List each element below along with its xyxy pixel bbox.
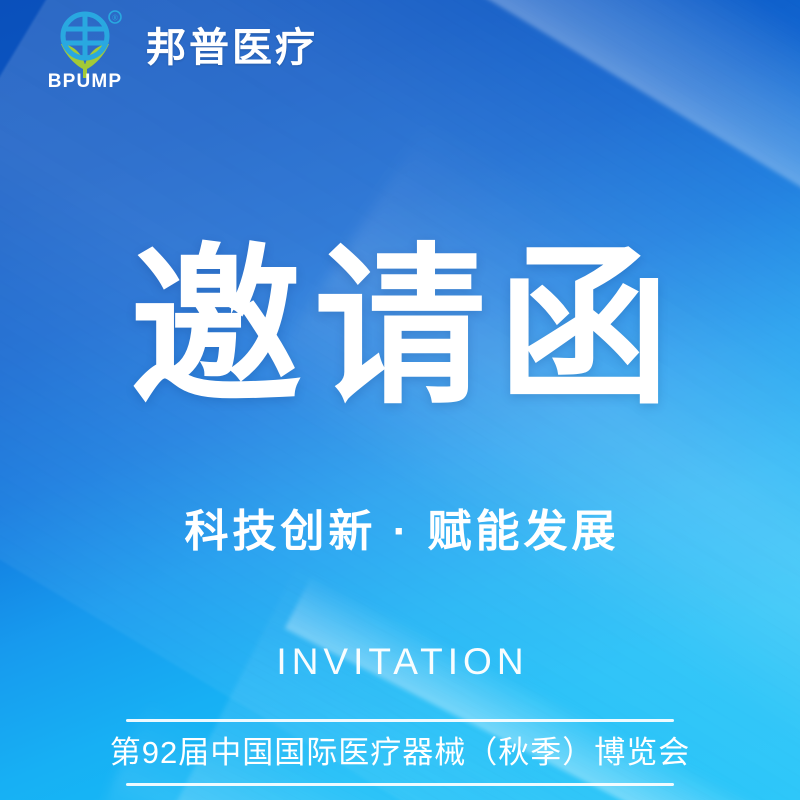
english-title: INVITATION — [0, 640, 800, 684]
registered-mark-letter: ® — [112, 13, 118, 22]
logo-wordmark: BPUMP — [48, 71, 123, 88]
footer-rule-bottom — [126, 783, 674, 786]
background-light-sweep-middle — [256, 120, 800, 800]
subtitle-slogan: 科技创新 · 赋能发展 — [0, 506, 800, 559]
bpump-logo-icon: ® BPUMP — [46, 8, 124, 88]
invitation-poster: ® BPUMP 邦普医疗 邀请函 科技创新 · 赋能发展 INVITATION … — [0, 0, 800, 800]
page-title: 邀请函 — [0, 236, 800, 422]
footer-banner: 第92届中国国际医疗器械（秋季）博览会 — [0, 719, 800, 786]
brand-lockup: ® BPUMP 邦普医疗 — [46, 8, 318, 88]
company-name: 邦普医疗 — [146, 28, 318, 68]
event-name: 第92届中国国际医疗器械（秋季）博览会 — [0, 722, 800, 783]
